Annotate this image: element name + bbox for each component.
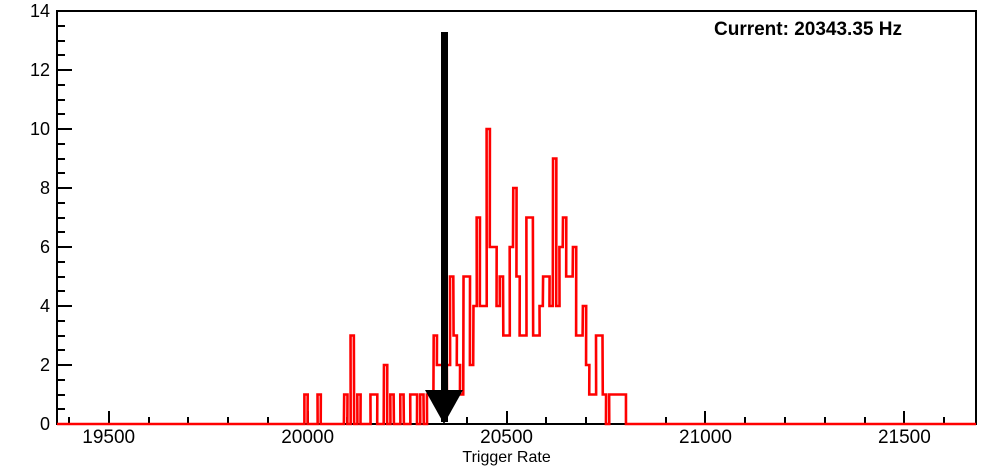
current-rate-label: Current: 20343.35 Hz [714,20,902,39]
x-tick-minor [744,417,746,425]
plot-frame [56,10,976,424]
y-tick-minor [56,40,65,42]
y-tick-label: 2 [0,356,50,374]
y-tick-minor [56,172,65,174]
y-tick-minor [56,25,65,27]
y-tick-minor [56,261,65,263]
y-tick-minor [56,143,65,145]
histogram-canvas: 02468101214 1950020000205002100021500 Cu… [0,0,996,472]
y-tick-major [56,246,72,248]
y-tick-major [56,187,72,189]
y-tick-minor [56,217,65,219]
x-tick-label: 21000 [679,428,732,447]
y-tick-minor [56,379,65,381]
x-tick-major [108,411,110,425]
x-axis-line [56,423,977,425]
x-tick-minor [585,417,587,425]
x-tick-label: 21500 [878,428,931,447]
y-tick-minor [56,84,65,86]
y-tick-major [56,364,72,366]
y-tick-minor [56,335,65,337]
x-tick-minor [227,417,229,425]
y-tick-label: 6 [0,238,50,256]
y-tick-minor [56,231,65,233]
y-tick-label: 12 [0,61,50,79]
current-rate-marker-line [441,32,448,422]
right-axis-line [975,10,977,424]
x-tick-minor [267,417,269,425]
x-tick-minor [864,417,866,425]
y-tick-minor [56,54,65,56]
x-tick-label: 20500 [480,428,533,447]
y-tick-minor [56,394,65,396]
x-tick-minor [466,417,468,425]
y-tick-minor [56,290,65,292]
x-tick-minor [943,417,945,425]
y-tick-minor [56,349,65,351]
y-tick-label: 10 [0,120,50,138]
y-tick-major [56,305,72,307]
x-tick-major [307,411,309,425]
x-axis-title: Trigger Rate [462,450,550,466]
y-tick-label: 4 [0,297,50,315]
y-tick-minor [56,408,65,410]
x-tick-minor [545,417,547,425]
y-tick-label: 14 [0,2,50,20]
x-tick-minor [187,417,189,425]
x-tick-minor [625,417,627,425]
x-tick-minor [665,417,667,425]
x-tick-minor [346,417,348,425]
y-tick-minor [56,320,65,322]
y-tick-label: 8 [0,179,50,197]
x-tick-minor [148,417,150,425]
x-tick-major [506,411,508,425]
x-tick-major [704,411,706,425]
y-tick-minor [56,202,65,204]
y-tick-minor [56,113,65,115]
y-tick-major [56,128,72,130]
x-tick-minor [386,417,388,425]
y-tick-minor [56,99,65,101]
x-tick-major [903,411,905,425]
y-tick-minor [56,276,65,278]
x-tick-minor [824,417,826,425]
x-tick-label: 20000 [281,428,334,447]
y-tick-label: 0 [0,415,50,433]
y-tick-minor [56,158,65,160]
y-tick-major [56,69,72,71]
x-tick-minor [784,417,786,425]
current-rate-marker-arrow-icon [425,390,463,424]
y-tick-major [56,10,72,12]
x-tick-label: 19500 [82,428,135,447]
x-tick-minor [68,417,70,425]
